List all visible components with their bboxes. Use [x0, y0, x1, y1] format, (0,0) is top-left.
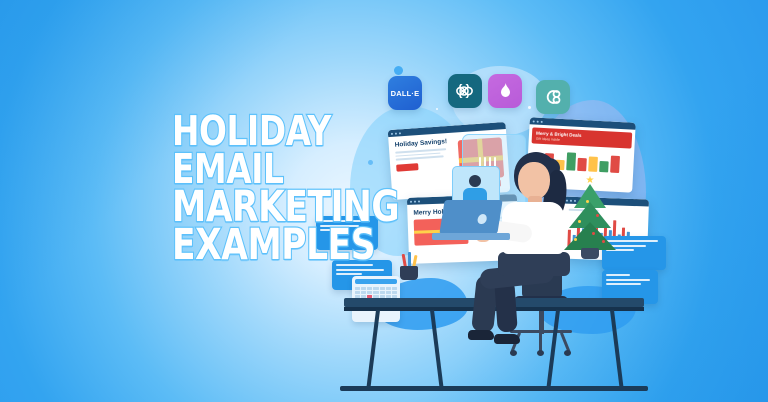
shoe-right: [494, 334, 520, 344]
title-line-4: EXAMPLES: [172, 226, 356, 264]
dalle-icon[interactable]: DALL·E: [388, 76, 422, 110]
person-woman-at-laptop: [472, 148, 590, 348]
hips: [498, 252, 570, 276]
calendar-header: [355, 279, 397, 284]
pencil-cup: [400, 254, 418, 280]
c3-glyph: [543, 87, 563, 107]
face: [518, 162, 550, 200]
flame-glyph: [498, 82, 513, 100]
dalle-icon-label: DALL·E: [391, 89, 420, 98]
holiday-email-marketing-banner: HOLIDAY EMAIL MARKETING EXAMPLES DALL·E: [0, 0, 768, 402]
laptop[interactable]: [432, 200, 508, 244]
laptop-lid: [439, 200, 502, 234]
page-title: HOLIDAY EMAIL MARKETING EXAMPLES: [172, 112, 402, 264]
apple-logo-icon: [477, 214, 488, 224]
promo-banner: Merry & Bright Deals Gift ideas inside: [532, 127, 633, 148]
infinity-icon[interactable]: [448, 74, 482, 108]
laptop-base: [432, 233, 510, 240]
floor-line: [340, 386, 648, 391]
decorative-dot: [394, 66, 403, 75]
shoe-left: [468, 330, 494, 340]
cup: [400, 266, 418, 280]
flame-icon[interactable]: [488, 74, 522, 108]
c3-icon[interactable]: [536, 80, 570, 114]
infinity-glyph: [454, 84, 476, 98]
